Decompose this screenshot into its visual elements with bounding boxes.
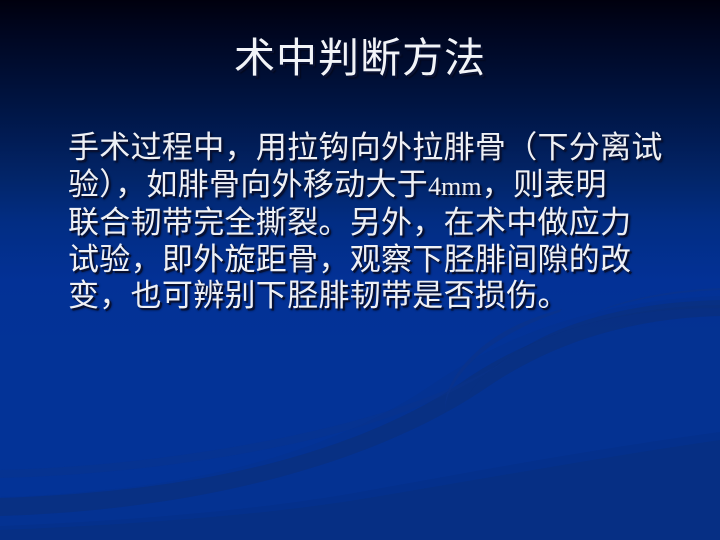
body-line-2-part-a: 验），如腓骨向外移动大于 [68,167,428,202]
body-line-2: 验），如腓骨向外移动大于4mm，则表明 [68,167,680,206]
body-line-3: 联合韧带完全撕裂。另外，在术中做应力 [68,205,680,242]
body-line-5: 变，也可辨别下胫腓韧带是否损伤。 [68,278,680,315]
slide-title: 术中判断方法 [0,33,720,83]
body-line-1: 手术过程中，用拉钩向外拉腓骨（下分离试 [68,130,680,167]
presentation-slide: 术中判断方法 手术过程中，用拉钩向外拉腓骨（下分离试 验），如腓骨向外移动大于4… [0,0,720,540]
body-line-2-part-b: ，则表明 [482,167,607,202]
body-line-4: 试验，即外旋距骨，观察下胫腓间隙的改 [68,242,680,279]
slide-body-text: 手术过程中，用拉钩向外拉腓骨（下分离试 验），如腓骨向外移动大于4mm，则表明 … [68,130,680,315]
measurement-value: 4mm [428,172,481,201]
